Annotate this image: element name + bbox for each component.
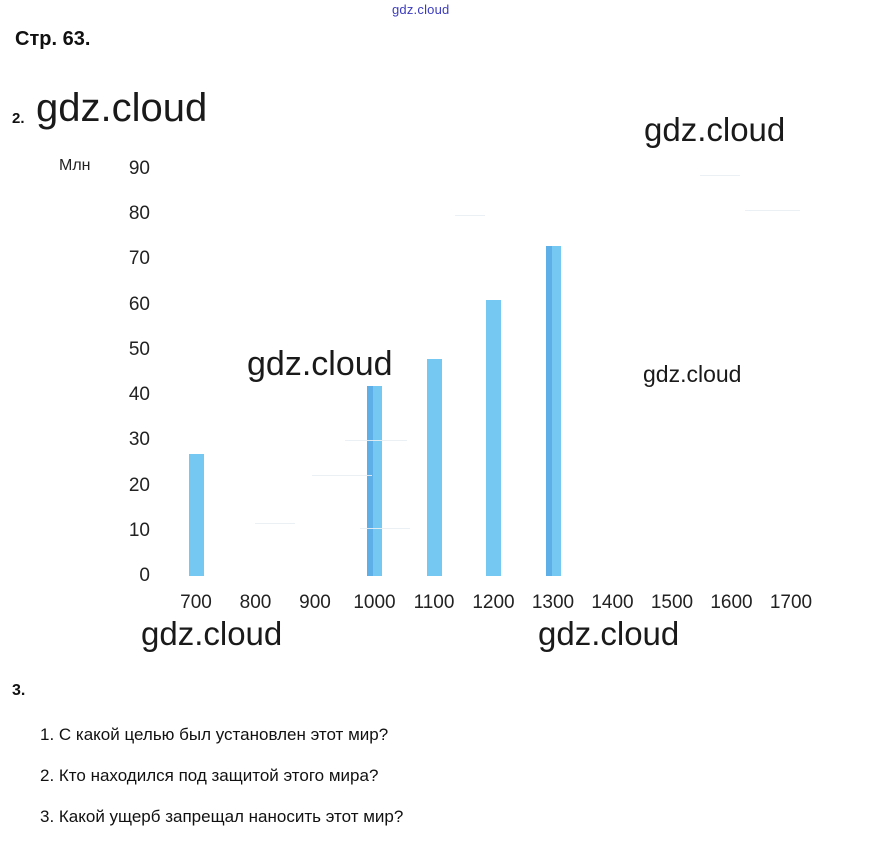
question-item: 1. С какой целью был установлен этот мир…: [40, 726, 640, 743]
x-axis-tick-label: 900: [285, 592, 345, 614]
scan-artefact-line: [255, 523, 295, 524]
x-axis-tick-label: 700: [166, 592, 226, 614]
bar: [546, 246, 561, 576]
y-axis-tick-label: 70: [110, 248, 150, 270]
bar-shade: [546, 246, 552, 576]
y-axis-tick-label: 60: [110, 294, 150, 316]
bar-chart: Млн 0102030405060708090 7008009001000110…: [0, 0, 873, 640]
scan-artefact-line: [455, 215, 485, 216]
scan-artefact-line: [360, 528, 410, 529]
bar: [367, 386, 382, 576]
y-axis-tick-label: 30: [110, 429, 150, 451]
scan-artefact-line: [700, 175, 740, 176]
x-axis-tick-label: 1400: [583, 592, 643, 614]
task-number-3: 3.: [12, 682, 25, 700]
question-list: 1. С какой целью был установлен этот мир…: [40, 726, 640, 849]
x-axis-tick-label: 1700: [761, 592, 821, 614]
question-item: 2. Кто находился под защитой этого мира?: [40, 767, 640, 784]
bar: [486, 300, 501, 576]
x-axis-tick-label: 1100: [404, 592, 464, 614]
y-axis-tick-label: 80: [110, 203, 150, 225]
y-axis-tick-label: 90: [110, 158, 150, 180]
y-axis-tick-label: 0: [110, 565, 150, 587]
y-axis-tick-label: 40: [110, 384, 150, 406]
x-axis-tick-label: 1000: [345, 592, 405, 614]
scan-artefact-line: [345, 440, 407, 441]
scan-artefact-line: [745, 210, 800, 211]
y-axis-tick-label: 50: [110, 339, 150, 361]
x-axis-tick-label: 1500: [642, 592, 702, 614]
bar: [189, 454, 204, 576]
x-axis-tick-label: 1200: [464, 592, 524, 614]
x-axis-tick-label: 1600: [702, 592, 762, 614]
bar: [427, 359, 442, 576]
scan-artefact-line: [312, 475, 372, 476]
question-item: 3. Какой ущерб запрещал наносить этот ми…: [40, 808, 640, 825]
x-axis-tick-label: 1300: [523, 592, 583, 614]
bar-shade: [367, 386, 373, 576]
y-axis-unit-label: Млн: [59, 157, 91, 175]
x-axis-tick-label: 800: [226, 592, 286, 614]
y-axis-tick-label: 10: [110, 520, 150, 542]
y-axis-tick-label: 20: [110, 475, 150, 497]
